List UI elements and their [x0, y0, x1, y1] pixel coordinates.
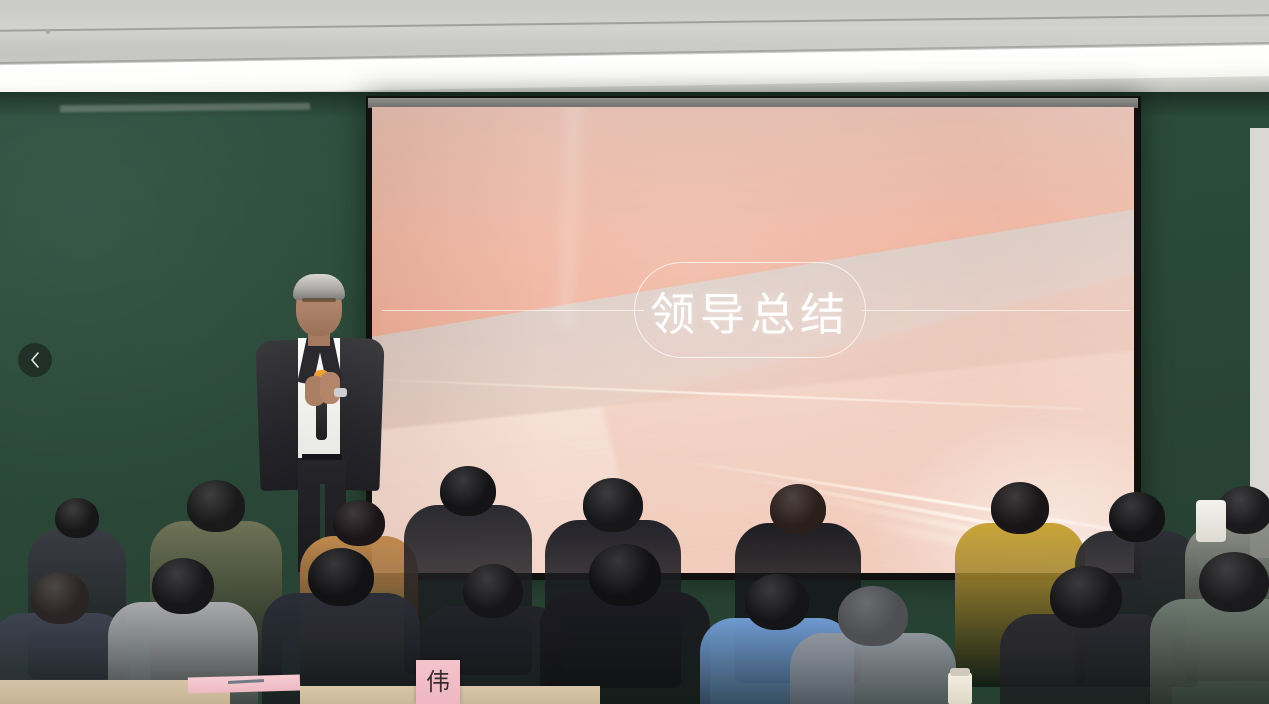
ceiling-screw [46, 30, 50, 34]
attendee-head [187, 480, 245, 532]
chevron-left-icon [29, 351, 42, 369]
speaker-hair [293, 274, 345, 300]
attendee-head [308, 548, 374, 606]
attendee-head [1199, 552, 1269, 612]
attendee-head [589, 544, 661, 606]
name-placard: 伟 [416, 660, 460, 704]
attendee-head [31, 572, 89, 624]
attendee-head [991, 482, 1049, 534]
audience [0, 440, 1269, 704]
attendee-f7 [790, 586, 956, 704]
name-placard-text: 伟 [426, 670, 450, 694]
attendee-head [440, 466, 496, 516]
attendee-head [838, 586, 908, 646]
attendee-f8 [1000, 566, 1172, 704]
ceiling-seam [0, 14, 1269, 32]
slide-accent-line-right [862, 310, 1130, 311]
attendee-head [55, 498, 99, 538]
speaker-face-shadow [302, 298, 336, 302]
water-bottle-cap [950, 668, 970, 676]
attendee-head [1109, 492, 1165, 542]
attendee-head [152, 558, 214, 614]
attendee-f9 [1150, 552, 1269, 704]
pink-paper [188, 675, 300, 694]
slide-title-pill: 领导总结 [634, 262, 866, 358]
slide-title: 领导总结 [650, 278, 850, 343]
attendee-f5 [540, 544, 710, 704]
attendee-head [463, 564, 523, 618]
paper-cup [1196, 500, 1226, 542]
presentation-photo: 领导总结 伟 [0, 0, 1269, 704]
attendee-head [770, 484, 826, 534]
slide-accent-line-left [382, 310, 644, 311]
attendee-body [1150, 599, 1269, 704]
attendee-head [333, 500, 385, 546]
speaker-watch [334, 388, 347, 397]
water-bottle [948, 672, 972, 704]
attendee-head [583, 478, 643, 532]
attendee-head [1050, 566, 1122, 628]
previous-photo-button[interactable] [18, 343, 52, 377]
